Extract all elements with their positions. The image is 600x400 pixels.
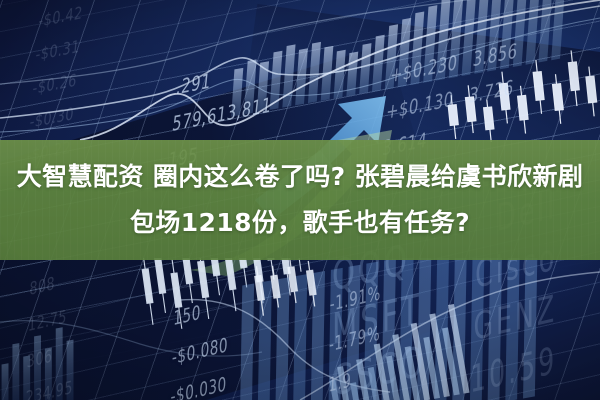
volume-bars-bottom-left xyxy=(0,325,73,400)
headline-line-1: 大智慧配资 圈内这么卷了吗? 张碧晨给虞书欣新剧 xyxy=(17,156,584,198)
headline-line-2: 包场1218份，歌手也有任务? xyxy=(130,202,470,244)
banner-image: -$0.42 -$0.31 -$0.26 -$0.30 -$0.22 .291 … xyxy=(0,0,600,400)
headline-text: 大智慧配资 圈内这么卷了吗? 张碧晨给虞书欣新剧 包场1218份，歌手也有任务? xyxy=(0,140,600,260)
